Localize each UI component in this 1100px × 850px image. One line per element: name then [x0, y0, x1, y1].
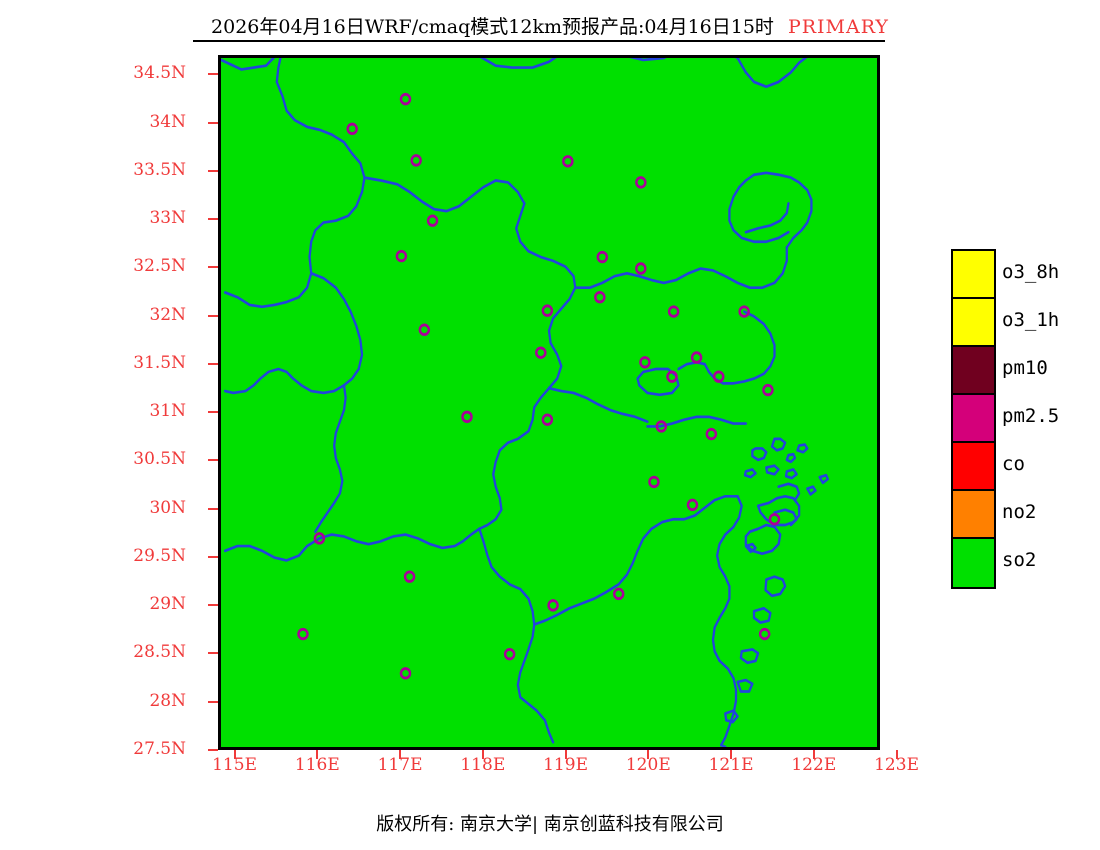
legend-item-label: no2 [1002, 503, 1036, 522]
x-axis-tick-label: 120E [626, 757, 671, 774]
x-axis-tick-mark [730, 750, 732, 759]
legend-item-label: pm2.5 [1002, 407, 1059, 426]
x-axis-tick-label: 118E [460, 757, 505, 774]
x-axis-tick-label: 117E [378, 757, 423, 774]
copyright-footer: 版权所有: 南京大学| 南京创蓝科技有限公司 [0, 810, 1100, 836]
legend-item-label: pm10 [1002, 359, 1048, 378]
x-axis-tick-mark [813, 750, 815, 759]
x-axis-tick-mark [482, 750, 484, 759]
x-axis: 115E116E117E118E119E120E121E122E123E [0, 0, 1100, 850]
x-axis-tick-label: 116E [295, 757, 340, 774]
legend-item[interactable]: o3_1h [953, 299, 994, 347]
x-axis-tick-mark [647, 750, 649, 759]
x-axis-tick-mark [399, 750, 401, 759]
legend-item[interactable]: co [953, 443, 994, 491]
x-axis-tick-mark [316, 750, 318, 759]
legend-color-swatch [953, 539, 994, 587]
legend-item[interactable]: o3_8h [953, 251, 994, 299]
legend-item-label: o3_1h [1002, 311, 1059, 330]
legend-color-swatch [953, 395, 994, 443]
legend-item[interactable]: no2 [953, 491, 994, 539]
legend-item-label: o3_8h [1002, 263, 1059, 282]
legend-color-swatch [953, 491, 994, 539]
x-axis-tick-label: 122E [791, 757, 836, 774]
x-axis-tick-mark [565, 750, 567, 759]
x-axis-tick-mark [234, 750, 236, 759]
legend-item[interactable]: so2 [953, 539, 994, 587]
legend-color-swatch [953, 347, 994, 395]
legend-color-swatch [953, 251, 994, 299]
legend-item-label: so2 [1002, 551, 1036, 570]
legend-color-swatch [953, 443, 994, 491]
x-axis-tick-label: 115E [212, 757, 257, 774]
x-axis-tick-mark [896, 750, 898, 759]
legend: o3_8ho3_1hpm10pm2.5cono2so2 [951, 249, 996, 589]
x-axis-tick-label: 121E [709, 757, 754, 774]
x-axis-tick-label: 119E [543, 757, 588, 774]
legend-color-swatch [953, 299, 994, 347]
legend-item[interactable]: pm2.5 [953, 395, 994, 443]
legend-item-label: co [1002, 455, 1025, 474]
x-axis-tick-label: 123E [874, 757, 919, 774]
legend-item[interactable]: pm10 [953, 347, 994, 395]
